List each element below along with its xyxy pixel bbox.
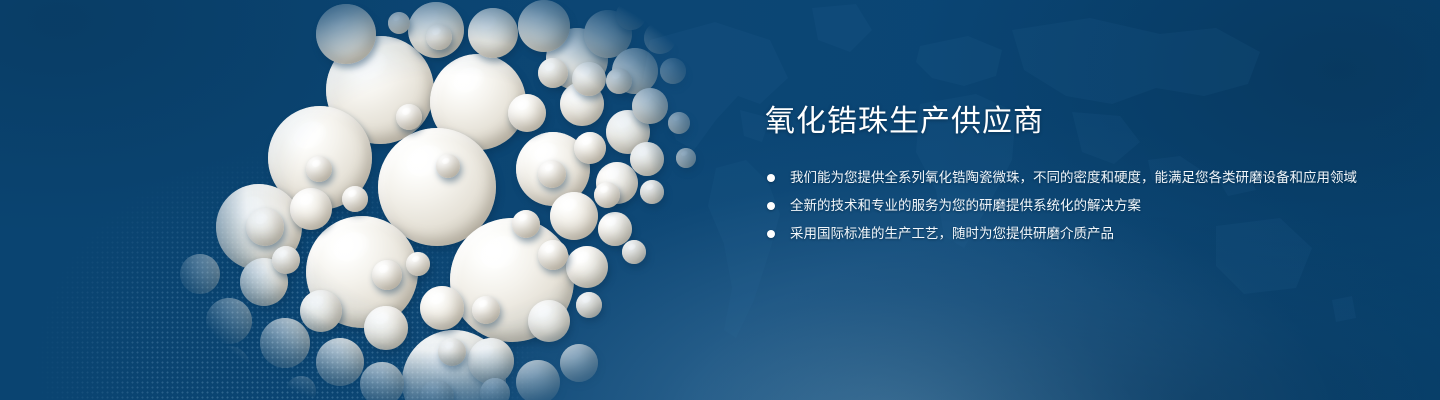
feature-bullet-text: 我们能为您提供全系列氧化锆陶瓷微珠，不同的密度和硬度，能满足您各类研磨设备和应用… [790, 166, 1385, 189]
bullet-dot-icon [767, 230, 775, 238]
feature-bullet-item: 我们能为您提供全系列氧化锆陶瓷微珠，不同的密度和硬度，能满足您各类研磨设备和应用… [765, 166, 1385, 189]
zirconia-beads-photo [120, 0, 720, 400]
feature-bullet-text: 采用国际标准的生产工艺，随时为您提供研磨介质产品 [790, 222, 1385, 245]
bullet-dot-icon [767, 174, 775, 182]
feature-bullet-list: 我们能为您提供全系列氧化锆陶瓷微珠，不同的密度和硬度，能满足您各类研磨设备和应用… [765, 166, 1385, 245]
feature-bullet-item: 采用国际标准的生产工艺，随时为您提供研磨介质产品 [765, 222, 1385, 245]
feature-bullet-item: 全新的技术和专业的服务为您的研磨提供系统化的解决方案 [765, 194, 1385, 217]
banner-copy: 氧化锆珠生产供应商 我们能为您提供全系列氧化锆陶瓷微珠，不同的密度和硬度，能满足… [765, 104, 1385, 250]
bullet-dot-icon [767, 202, 775, 210]
banner-headline: 氧化锆珠生产供应商 [765, 104, 1385, 140]
feature-bullet-text: 全新的技术和专业的服务为您的研磨提供系统化的解决方案 [790, 194, 1385, 217]
hero-banner: 氧化锆珠生产供应商 我们能为您提供全系列氧化锆陶瓷微珠，不同的密度和硬度，能满足… [0, 0, 1440, 400]
